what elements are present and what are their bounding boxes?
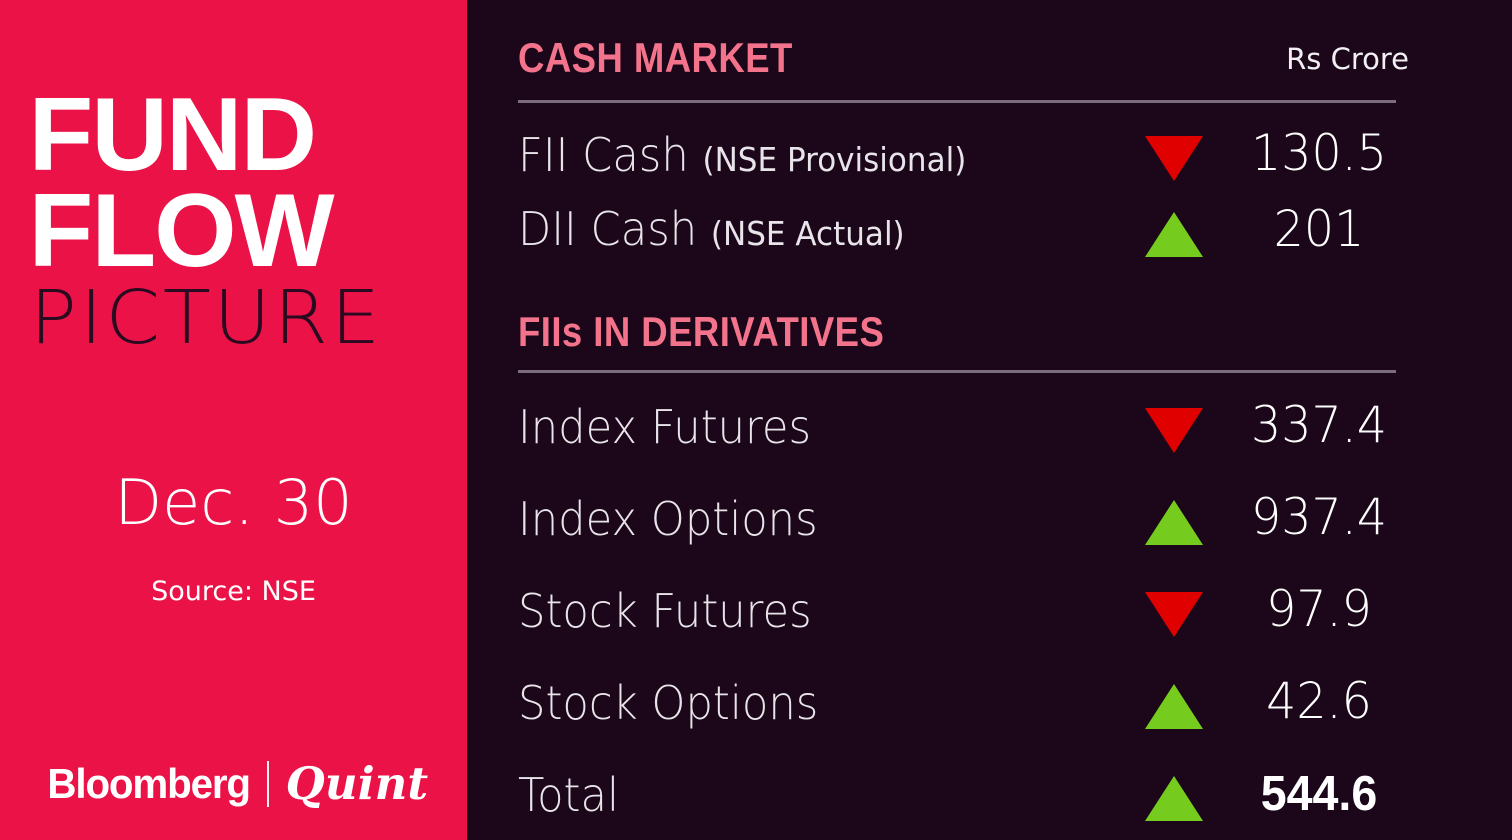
row-label: Stock Options [518,676,818,730]
section-fii-derivatives: FIIs IN DERIVATIVES Index Futures 337.4 … [518,308,1448,364]
unit-label: Rs Crore [1286,42,1409,76]
row-label: DII Cash (NSE Actual) [518,202,905,256]
trend-up-icon [1145,684,1203,729]
row-value: 201 [1210,200,1429,258]
row-value: 42.6 [1210,672,1429,730]
row-label-sub: (NSE Actual) [711,214,905,253]
trend-up-icon [1145,212,1203,257]
date-label: Dec. 30 [0,466,467,539]
title-line-fund: FUND [0,88,476,184]
row-label-main: FII Cash [518,128,689,182]
section-divider [518,100,1396,103]
row-label: Stock Futures [518,584,812,638]
logo-bloomberg-text: Bloomberg [47,760,249,808]
row-label-main: Stock Options [518,676,818,730]
trend-down-icon [1145,136,1203,181]
trend-up-icon [1145,500,1203,545]
section-title: FIIs IN DERIVATIVES [518,308,884,356]
data-panel: CASH MARKET Rs Crore FII Cash (NSE Provi… [467,0,1512,840]
row-label: FII Cash (NSE Provisional) [518,128,966,182]
bloombergquint-logo: Bloomberg Quint [0,757,467,810]
trend-up-icon [1145,776,1203,821]
section-header: FIIs IN DERIVATIVES [518,308,1448,364]
row-value: 97.9 [1210,580,1429,638]
infographic-root: FUND FLOW PICTURE Dec. 30 Source: NSE Bl… [0,0,1512,840]
trend-down-icon [1145,408,1203,453]
row-label: Index Futures [518,400,811,454]
row-value: 937.4 [1210,488,1429,546]
row-label-main: Stock Futures [518,584,812,638]
title-block: FUND FLOW PICTURE [0,88,467,357]
title-line-picture: PICTURE [0,281,495,356]
row-value: 130.5 [1210,124,1429,182]
section-header: CASH MARKET Rs Crore [518,34,1448,90]
row-label-main: Index Options [518,492,818,546]
row-label-main: Total [518,768,619,822]
logo-quint-text: Quint [286,757,429,810]
section-title: CASH MARKET [518,34,793,82]
logo-divider [267,761,269,807]
trend-down-icon [1145,592,1203,637]
section-cash-market: CASH MARKET Rs Crore FII Cash (NSE Provi… [518,34,1448,90]
section-divider [518,370,1396,373]
source-label: Source: NSE [0,576,467,607]
row-value-total: 544.6 [1210,766,1429,822]
row-label-sub: (NSE Provisional) [703,140,967,179]
row-label: Index Options [518,492,818,546]
row-value: 337.4 [1210,396,1429,454]
title-line-flow: FLOW [0,184,476,280]
row-label: Total [518,768,619,822]
row-label-main: DII Cash [518,202,697,256]
row-label-main: Index Futures [518,400,811,454]
brand-panel: FUND FLOW PICTURE Dec. 30 Source: NSE Bl… [0,0,467,840]
